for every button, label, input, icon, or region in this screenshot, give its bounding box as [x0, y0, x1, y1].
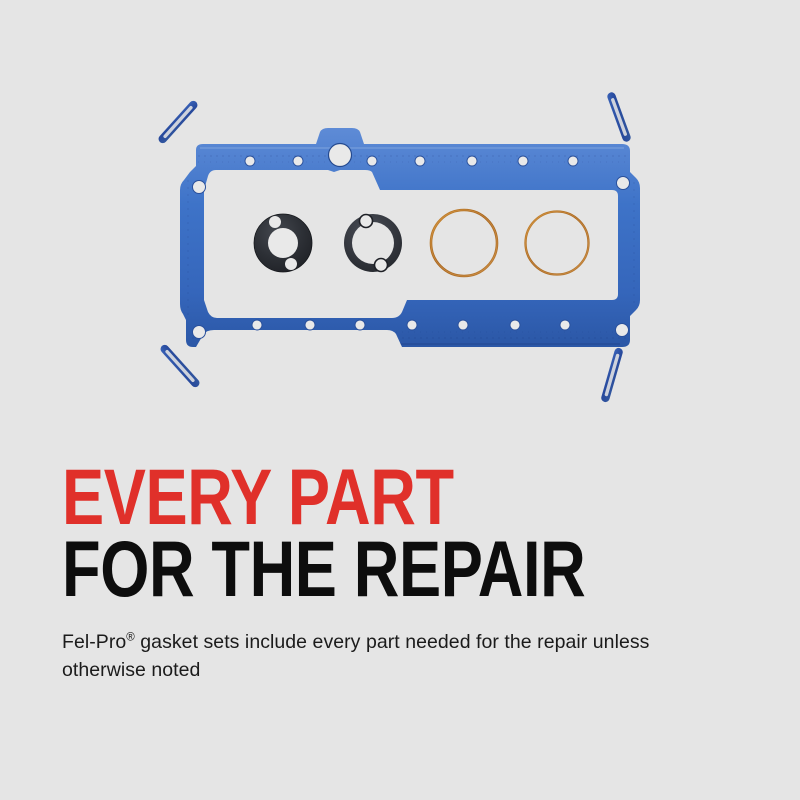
promo-canvas: EVERY PART FOR THE REPAIR Fel-Pro® gaske…: [0, 0, 800, 800]
product-image-oil-pan-gasket-set: [0, 0, 800, 440]
promo-text-block: EVERY PART FOR THE REPAIR Fel-Pro® gaske…: [62, 462, 762, 685]
headline-secondary: FOR THE REPAIR: [62, 534, 622, 604]
rear-main-seal-strip-bottom-left: [159, 343, 201, 389]
rear-main-seal-strip-top-left: [157, 99, 199, 145]
subcopy-paragraph: Fel-Pro® gasket sets include every part …: [62, 628, 687, 685]
copper-o-ring-small: [526, 212, 589, 275]
black-flange-gasket-thick: [254, 214, 312, 272]
oil-pan-gasket-frame: [180, 128, 640, 347]
brand-name: Fel-Pro: [62, 631, 126, 653]
subcopy-body: gasket sets include every part needed fo…: [135, 631, 532, 653]
rear-main-seal-strip-bottom-right: [600, 347, 624, 403]
rear-main-seal-strip-top-right: [606, 91, 632, 143]
headline-primary: EVERY PART: [62, 462, 622, 532]
copper-o-ring-large: [431, 210, 497, 276]
registered-trademark-icon: ®: [126, 632, 135, 644]
black-flange-gasket-thin: [344, 214, 402, 272]
